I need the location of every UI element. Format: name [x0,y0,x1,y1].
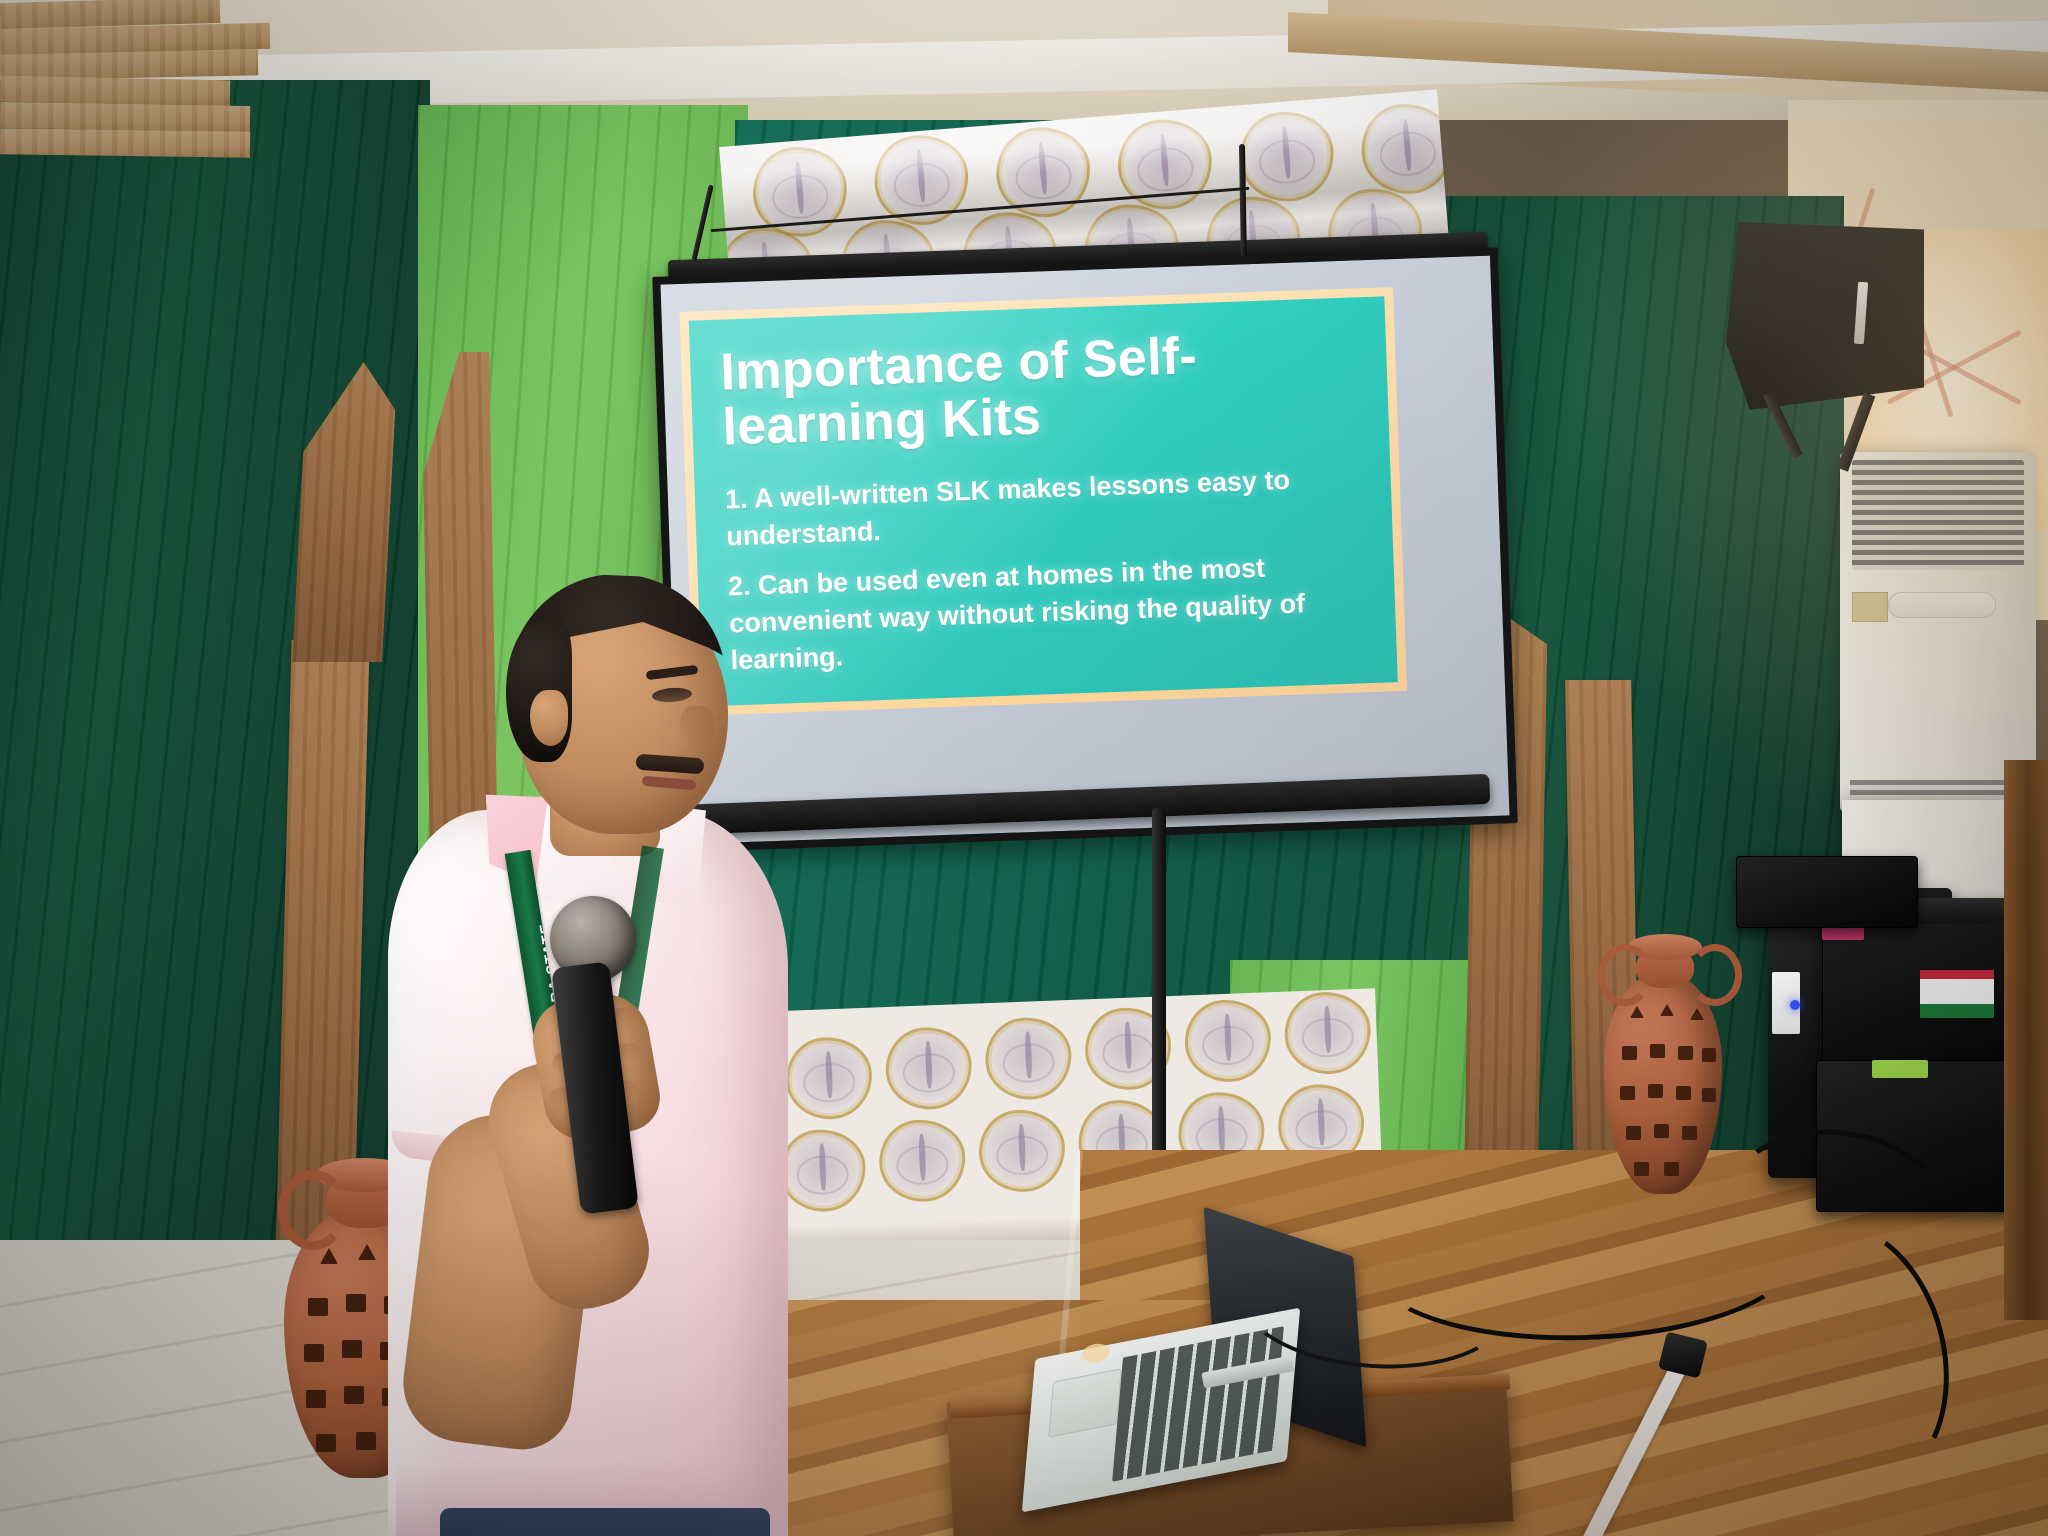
presenter-nose [680,706,714,748]
pot-hole [1620,1086,1635,1100]
pot-hole [1702,1048,1716,1062]
pot-hole [1650,1044,1665,1058]
seal-icon [1283,990,1372,1075]
pot-hole [1678,1046,1693,1060]
pot-hole [1682,1126,1697,1140]
presenter: AURORA STATE [380,560,940,1536]
crate-sticker-label [1920,970,1994,1018]
pot-hole [1626,1126,1641,1140]
presenter-jeans [440,1508,770,1536]
storage-crate-back [1736,856,1918,928]
ac-grill [1852,460,2024,570]
photo-scene: Importance of Self-learning Kits 1. A we… [0,0,2048,1536]
pot-hole [346,1294,366,1312]
pot-handle-left [278,1170,348,1250]
ac-control-panel [1888,592,1996,618]
pot-hole [1664,1162,1679,1176]
wooden-shelf-right-board-2 [0,102,250,132]
pot-hole [1654,1124,1669,1138]
pot-hole [344,1386,364,1404]
pot-hole [1622,1046,1637,1060]
wooden-post-right [2004,760,2048,1320]
seal-icon [1183,998,1272,1083]
pot-hole [1648,1084,1663,1098]
screen-wire [711,187,1250,232]
screen-arm-left [691,184,713,261]
pot-hole [356,1432,376,1450]
pot-hole [1634,1162,1649,1176]
slide-title: Importance of Self-learning Kits [720,323,1359,455]
pot-handle-left [1598,944,1652,1006]
pot-hole [308,1298,328,1316]
wooden-shelf-right-board-3 [0,128,250,157]
pot-handle-right [1688,944,1742,1006]
pot-hole [306,1390,326,1408]
presenter-ear [530,690,568,746]
seal-icon [977,1108,1066,1193]
pot-hole [304,1344,324,1362]
wall-speaker [1726,222,1924,410]
pot-hole [342,1340,362,1358]
clay-pot-right [1592,920,1732,1200]
pot-hole [1702,1088,1716,1102]
speaker-led-icon [1790,1000,1800,1010]
seal-icon [984,1016,1073,1101]
crate-tape-green [1872,1060,1928,1078]
pot-hole [1676,1086,1691,1100]
slide-bullet-1: 1. A well-written SLK makes lessons easy… [724,460,1362,557]
pot-hole [316,1434,336,1452]
air-conditioner [1840,452,2036,812]
